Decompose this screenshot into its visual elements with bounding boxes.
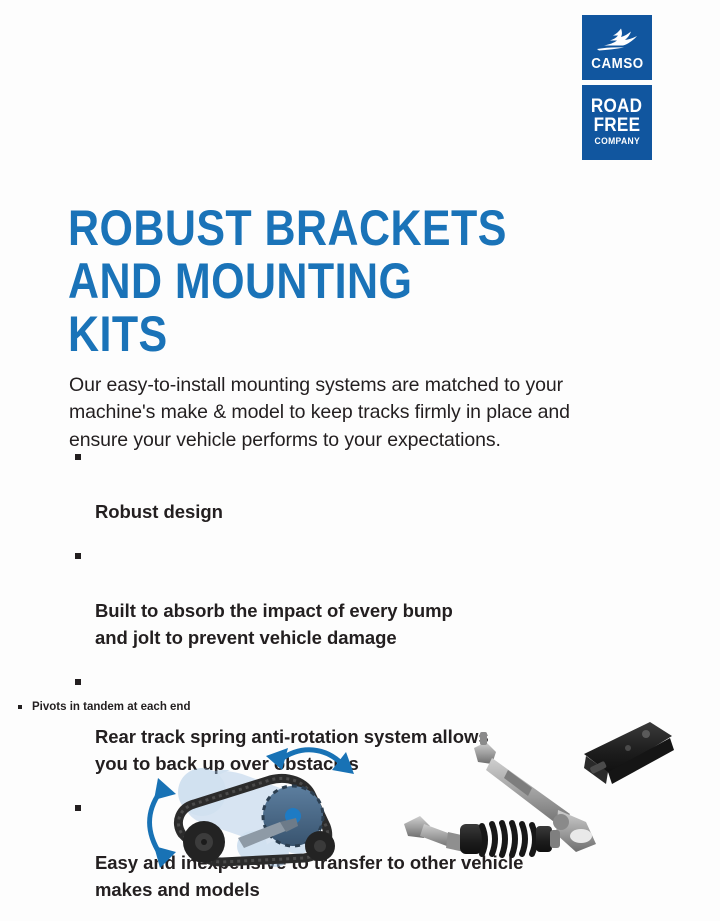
page-title: ROBUST BRACKETS AND MOUNTING KITS (68, 202, 515, 361)
spring-damper-assembly (404, 816, 560, 855)
road-free-company-box: ROAD FREE COMPANY (582, 85, 652, 160)
list-item-label: Built to absorb the impact of every bump… (95, 600, 453, 648)
intro-paragraph: Our easy-to-install mounting systems are… (69, 372, 629, 455)
idler-wheel (183, 821, 225, 863)
square-bullet-icon (75, 805, 81, 811)
list-item-label: Robust design (95, 501, 223, 522)
square-bullet-icon (75, 454, 81, 460)
rear-wheel (305, 831, 335, 861)
figure-caption-label: Pivots in tandem at each end (32, 701, 190, 713)
square-bullet-icon (18, 705, 22, 709)
mounting-hardware-photo (400, 718, 700, 888)
list-item: Built to absorb the impact of every bump… (69, 543, 629, 651)
camso-logo: CAMSO ROAD FREE COMPANY (582, 15, 652, 160)
square-bullet-icon (75, 679, 81, 685)
camso-logo-box: CAMSO (582, 15, 652, 80)
mounting-bracket (584, 722, 674, 784)
list-item: Robust design (69, 444, 629, 525)
figure-caption: Pivots in tandem at each end (18, 700, 190, 714)
roadfree-line-2: FREE (594, 117, 641, 136)
camso-wordmark: CAMSO (591, 57, 643, 72)
right-pivot-arrow (266, 748, 354, 774)
square-bullet-icon (75, 553, 81, 559)
poster-page: CAMSO ROAD FREE COMPANY ROBUST BRACKETS … (0, 0, 720, 920)
track-system-pivot-diagram (130, 730, 390, 895)
left-pivot-arrow (150, 778, 177, 868)
camso-mountain-icon (593, 26, 641, 54)
roadfree-line-3: COMPANY (594, 137, 640, 146)
